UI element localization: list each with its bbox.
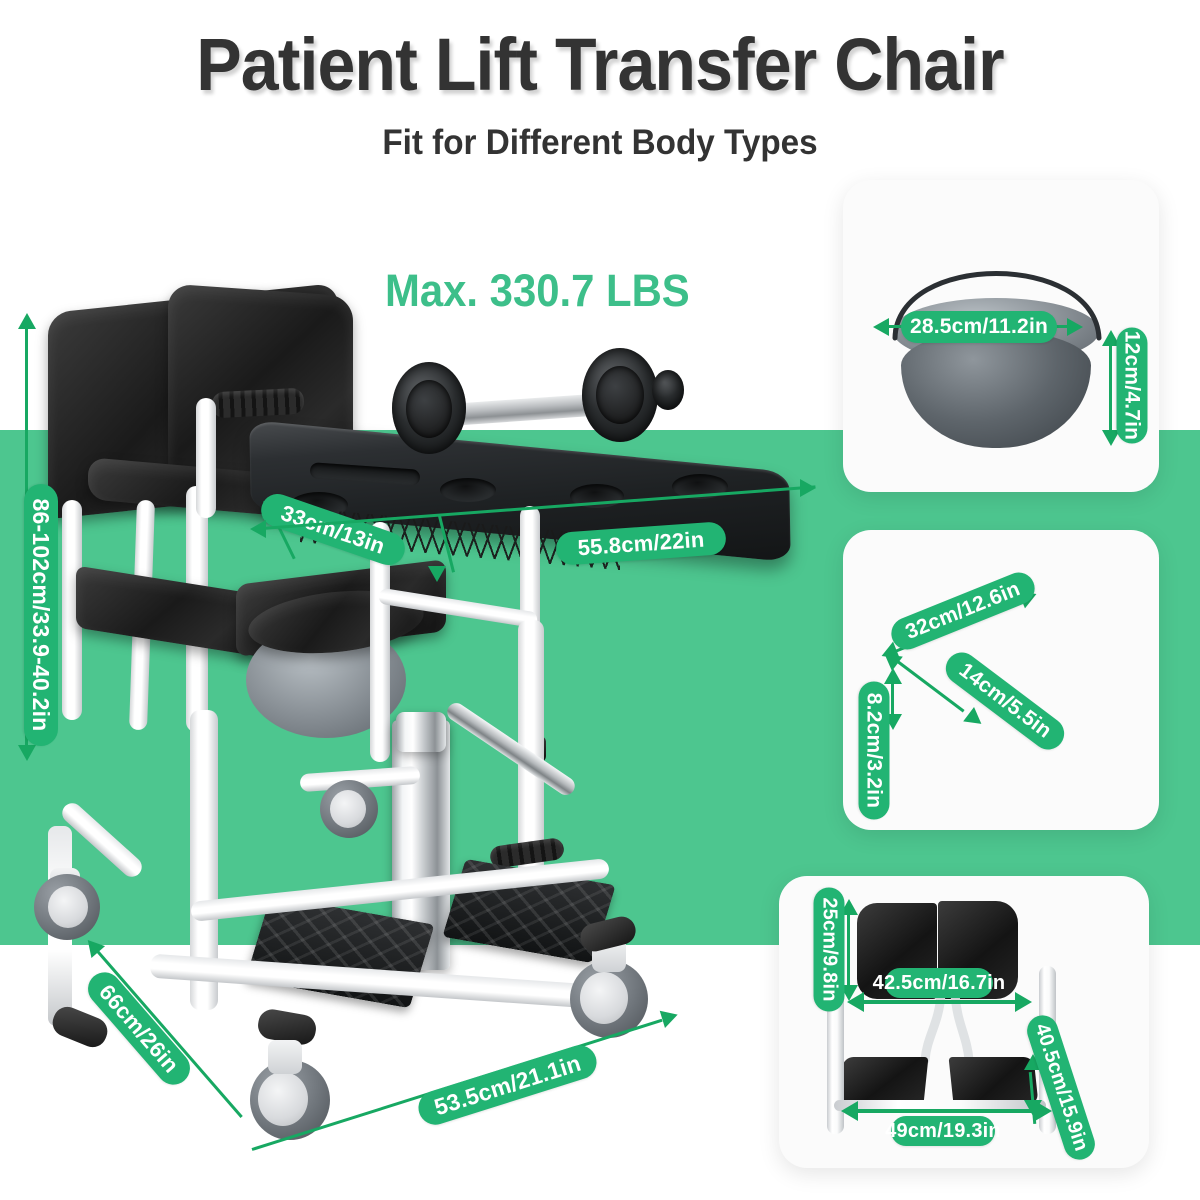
backrest-width-arrow-head-right [1015,992,1032,1012]
caster-hub-front-right [258,1072,308,1126]
caster-hub-rear-left [330,790,366,828]
page-title: Patient Lift Transfer Chair [48,22,1152,107]
caster-hub-rear-right [580,972,628,1024]
inset-card-seat-opening: 32cm/12.6in 14cm/5.5in 8.2cm/3.2in [843,530,1159,830]
dumbbell-plate-right-inner [596,366,644,424]
dimension-pill-opening-width: 14cm/5.5in [939,646,1070,756]
backrest-width-arrow-line [861,1000,1021,1004]
tray-depth-arrow-head-bottom [428,566,446,582]
bucket-diameter-arrow-head-right [1067,318,1083,336]
pump-lever-arm [444,700,578,799]
bucket-diameter-arrow-head-left [873,318,889,336]
seat-height-arrow-head-bottom [18,745,36,761]
seat-pad-left-front [839,1057,929,1104]
bucket-height-arrow-line [1109,342,1112,438]
opening-gap-arrow-head-top [884,668,902,684]
hydraulic-cylinder-top [396,712,446,752]
seat-height-arrow-head-top [18,313,36,329]
tray-width-arrow-head-left [250,520,266,538]
caster-hub-front-left [48,886,88,928]
dimension-pill-opening-gap: 8.2cm/3.2in [859,682,890,820]
push-handle-grip [211,388,304,419]
backrest-stem-icon [919,994,979,1062]
dimension-pill-opening-length: 32cm/12.6in [887,568,1040,655]
frame-height-arrow-head-bottom [1024,1100,1042,1116]
seat-width-arrow-head-left [841,1101,858,1121]
dumbbell-plate-left-inner [406,380,452,438]
dimension-pill-seat-width: 49cm/19.3in [891,1116,995,1146]
push-handle-post [196,398,216,518]
dumbbell-collar-right [652,370,684,410]
infographic-canvas: Patient Lift Transfer Chair Fit for Diff… [0,0,1200,1200]
seat-width-arrow-line [855,1109,1041,1113]
tray-cup-holder-2 [440,478,496,502]
tray-width-arrow-head-right [800,479,816,497]
bucket-body [901,330,1091,448]
dimension-pill-bucket-height: 12cm/4.7in [1117,328,1148,444]
opening-width-arrow-head-downright [963,707,987,731]
backrest-width-arrow-head-left [847,992,864,1012]
inset-card-backrest-seat: 25cm/9.8in 42.5cm/16.7in 49cm/19.3in 40.… [779,876,1149,1168]
dimension-pill-backrest-height: 25cm/9.8in [814,888,845,1012]
dimension-pill-bucket-diameter: 28.5cm/11.2in [901,311,1057,343]
dimension-pill-seat-height: 86-102cm/33.9-40.2in [24,484,58,746]
dimension-pill-backrest-width: 42.5cm/16.7in [885,968,993,998]
caster-fork-front-right [268,1040,302,1074]
backrest-height-arrow-line [847,911,850,993]
inset-card-commode-bucket: 28.5cm/11.2in 12cm/4.7in [843,180,1159,492]
page-subtitle: Fit for Different Body Types [30,123,1170,163]
